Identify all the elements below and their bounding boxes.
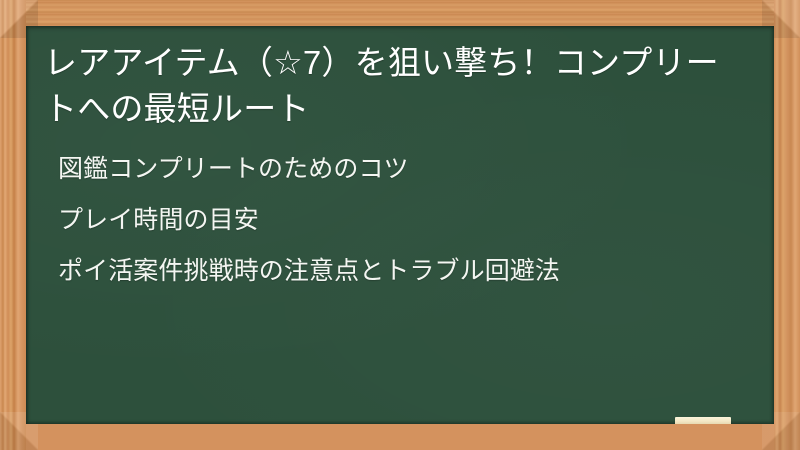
- wood-frame-bottom: [0, 424, 800, 450]
- chalkboard-surface: レアアイテム（☆7）を狙い撃ち！コンプリートへの最短ルート 図鑑コンプリートのた…: [26, 26, 774, 424]
- chalkboard-slide: レアアイテム（☆7）を狙い撃ち！コンプリートへの最短ルート 図鑑コンプリートのた…: [0, 0, 800, 450]
- chalk-stick-icon: [675, 417, 731, 424]
- wood-frame-right: [774, 0, 800, 450]
- list-item: プレイ時間の目安: [58, 208, 756, 233]
- page-title: レアアイテム（☆7）を狙い撃ち！コンプリートへの最短ルート: [44, 40, 734, 131]
- wood-frame-left: [0, 0, 26, 450]
- list-item: ポイ活案件挑戦時の注意点とトラブル回避法: [58, 259, 756, 284]
- wood-frame-top: [0, 0, 800, 26]
- table-of-contents: 図鑑コンプリートのためのコツ プレイ時間の目安 ポイ活案件挑戦時の注意点とトラブ…: [44, 157, 756, 284]
- chalkboard-content: レアアイテム（☆7）を狙い撃ち！コンプリートへの最短ルート 図鑑コンプリートのた…: [26, 26, 774, 424]
- list-item: 図鑑コンプリートのためのコツ: [58, 157, 756, 182]
